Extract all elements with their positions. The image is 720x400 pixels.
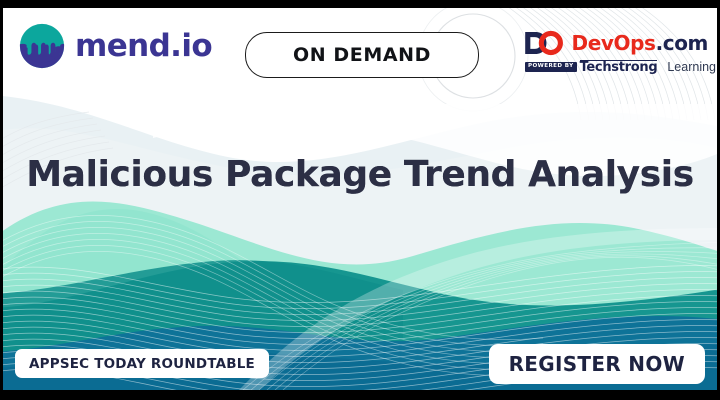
devops-primary-row: DevOps.com xyxy=(523,30,708,56)
devops-logo[interactable]: DevOps.com POWERED BY Techstrong Learnin… xyxy=(523,30,708,74)
mend-wordmark: mend.io xyxy=(75,31,212,62)
banner-header: mend.io ON DEMAND DevOps.com POWERED BY xyxy=(3,8,717,100)
series-badge-label: APPSEC TODAY ROUNDTABLE xyxy=(29,356,255,372)
on-demand-badge[interactable]: ON DEMAND xyxy=(245,32,479,78)
page-title: Malicious Package Trend Analysis xyxy=(3,154,717,195)
devops-do-monogram-icon xyxy=(523,30,566,56)
techstrong-attribution-row: POWERED BY Techstrong Learning xyxy=(525,60,708,74)
devops-name-primary: DevOps xyxy=(572,31,656,55)
mend-circle-wave-icon xyxy=(18,22,66,70)
webinar-banner: mend.io ON DEMAND DevOps.com POWERED BY xyxy=(0,0,720,400)
register-now-label: REGISTER NOW xyxy=(509,352,685,376)
powered-by-label: POWERED BY xyxy=(525,62,577,72)
techstrong-learning-label: Learning xyxy=(667,61,716,74)
devops-name-suffix: .com xyxy=(656,31,708,55)
techstrong-wordmark: Techstrong xyxy=(580,60,658,74)
on-demand-label: ON DEMAND xyxy=(293,44,431,66)
banner-artboard: mend.io ON DEMAND DevOps.com POWERED BY xyxy=(3,8,717,390)
mend-logo[interactable]: mend.io xyxy=(18,22,212,70)
register-now-button[interactable]: REGISTER NOW xyxy=(489,344,705,384)
series-badge: APPSEC TODAY ROUNDTABLE xyxy=(15,349,269,378)
devops-wordmark: DevOps.com xyxy=(572,33,708,53)
